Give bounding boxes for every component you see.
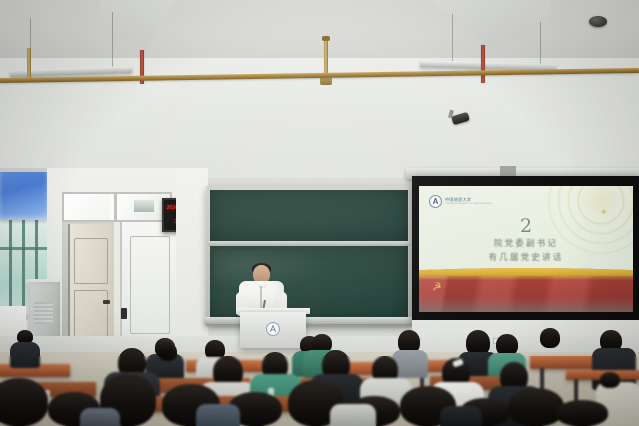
slide-title-line-1: 院党委副书记 <box>419 237 633 251</box>
door-handle-icon[interactable] <box>103 300 110 304</box>
university-name-en: CHINA UNIVERSITY OF GEOSCIENCES <box>445 203 492 206</box>
transom-visible-object <box>134 200 154 212</box>
door-panel-inset <box>74 238 108 284</box>
cabinet-vent-grille <box>34 302 53 324</box>
university-logo-mark: A <box>429 195 442 208</box>
person-head <box>0 378 48 426</box>
roller-blind[interactable] <box>0 172 47 220</box>
door-panel-inset <box>130 236 170 334</box>
slide-section-number: 2 <box>419 216 633 237</box>
lamp-suspension-wire <box>452 14 453 64</box>
slide-bottom-haze <box>419 298 633 312</box>
person-torso <box>196 404 240 426</box>
person-torso <box>330 404 376 426</box>
sprinkler-riser-cap <box>322 36 330 41</box>
transom-mullion <box>114 192 117 222</box>
projected-slide: ✦ A 中国地质大学 CHINA UNIVERSITY OF GEOSCIENC… <box>419 186 633 312</box>
window-frame-rail <box>0 247 47 250</box>
person-head <box>600 372 620 388</box>
window-mullion <box>9 220 12 316</box>
mid-wall <box>176 168 208 346</box>
person-torso <box>10 342 40 368</box>
person-head <box>556 400 608 426</box>
person-head <box>155 340 173 357</box>
lamp-suspension-wire <box>112 12 113 70</box>
university-logo-text: 中国地质大学 CHINA UNIVERSITY OF GEOSCIENCES <box>445 198 492 206</box>
window-mullion <box>22 220 25 316</box>
lamp-suspension-wire <box>540 22 541 66</box>
door-panel-inset <box>74 290 108 338</box>
university-logo: A 中国地质大学 CHINA UNIVERSITY OF GEOSCIENCES <box>429 195 492 208</box>
person-head <box>540 328 560 348</box>
person-torso <box>80 408 120 426</box>
university-name-cn: 中国地质大学 <box>445 198 492 202</box>
slide-body: 2 院党委副书记 有几届党史讲话 <box>419 216 633 265</box>
smoke-detector-icon <box>589 16 607 27</box>
person-torso <box>440 406 482 426</box>
chalk-tray <box>205 317 413 324</box>
party-emblem-icon: ☭ <box>431 281 446 293</box>
transom-pane-left <box>64 194 110 220</box>
blackboard-upper-panel <box>210 190 408 242</box>
person-head <box>508 388 564 426</box>
lectern-emblem: A <box>266 322 280 336</box>
door-handle-icon[interactable] <box>121 308 127 319</box>
slide-title-line-2: 有几届党史讲话 <box>419 251 633 265</box>
sprinkler-drop-right <box>481 45 485 83</box>
classroom-photo: 2024年10月26日 星期六 14时36分 ✦ A 中国地质大学 CHINA … <box>0 0 639 426</box>
